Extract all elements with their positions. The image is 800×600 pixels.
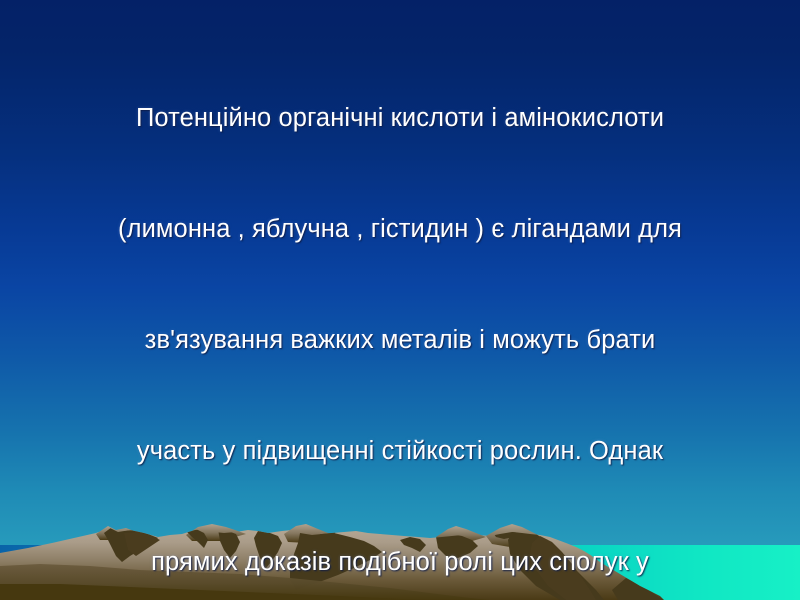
- text-line-2: (лимонна , яблучна , гістидин ) є ліганд…: [50, 211, 750, 248]
- text-line-3: зв'язування важких металів і можуть брат…: [50, 322, 750, 359]
- text-line-5: прямих доказів подібної ролі цих сполук …: [50, 544, 750, 581]
- text-line-1: Потенційно органічні кислоти і амінокисл…: [50, 100, 750, 137]
- presentation-slide: Потенційно органічні кислоти і амінокисл…: [0, 0, 800, 600]
- slide-body-text: Потенційно органічні кислоти і амінокисл…: [50, 26, 750, 600]
- text-line-4: участь у підвищенні стійкості рослин. Од…: [50, 433, 750, 470]
